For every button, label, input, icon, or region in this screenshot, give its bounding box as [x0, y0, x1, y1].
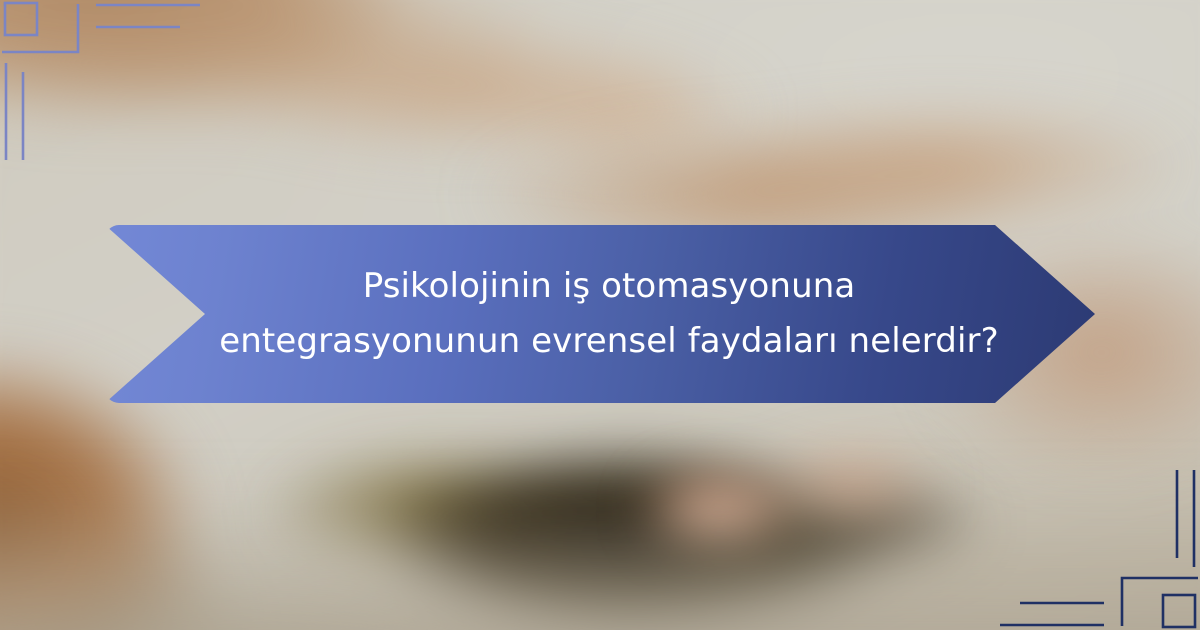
page-title: Psikolojinin iş otomasyonuna entegrasyon…	[199, 259, 1019, 369]
share-card: Psikolojinin iş otomasyonuna entegrasyon…	[0, 0, 1200, 630]
ribbon-banner: Psikolojinin iş otomasyonuna entegrasyon…	[105, 225, 1095, 403]
page-title-line-2: entegrasyonunun evrensel faydaları neler…	[199, 314, 1019, 369]
page-title-line-1: Psikolojinin iş otomasyonuna	[199, 259, 1019, 314]
